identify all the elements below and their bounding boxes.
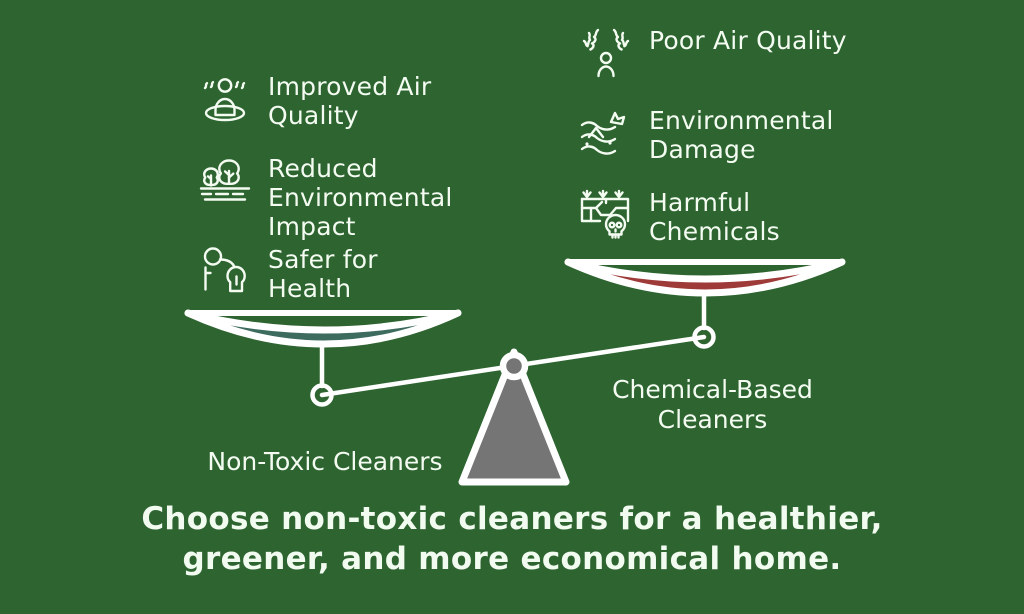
scale-hanger-right — [695, 293, 714, 347]
smoke-pollution-person-icon — [577, 24, 635, 82]
scale-pan-left — [188, 313, 458, 344]
benefit-label: Reduced Environmental Impact — [268, 152, 453, 241]
harm-label: Environmental Damage — [649, 104, 834, 164]
scale-fulcrum — [462, 352, 566, 482]
harm-label: Poor Air Quality — [649, 24, 847, 55]
barren-land-skull-icon — [577, 186, 635, 244]
polluted-water-waves-icon — [577, 104, 635, 162]
scale-label-left: Non-Toxic Cleaners — [190, 447, 460, 477]
person-fresh-air-icon — [196, 70, 254, 128]
benefit-item-improved-air-quality: Improved Air Quality — [196, 70, 461, 130]
benefit-label: Improved Air Quality — [268, 70, 431, 130]
scale-hanger-left — [313, 344, 332, 405]
harm-label: Harmful Chemicals — [649, 186, 780, 246]
trees-landscape-icon — [196, 152, 254, 210]
harm-item-harmful-chemicals: Harmful Chemicals — [577, 186, 857, 246]
headline-text: Choose non-toxic cleaners for a healthie… — [62, 500, 962, 579]
benefit-item-safer-for-health: Safer for Health — [196, 243, 446, 303]
scale-label-right: Chemical-Based Cleaners — [600, 375, 825, 435]
benefit-label: Safer for Health — [268, 243, 378, 303]
benefit-item-reduced-environmental-impact: Reduced Environmental Impact — [196, 152, 468, 241]
harm-item-poor-air-quality: Poor Air Quality — [577, 24, 897, 82]
harm-item-environmental-damage: Environmental Damage — [577, 104, 877, 164]
adult-and-child-icon — [196, 243, 254, 301]
scale-pan-right — [568, 262, 842, 293]
infographic-canvas: Improved Air Quality Reduced Environment… — [0, 0, 1024, 614]
